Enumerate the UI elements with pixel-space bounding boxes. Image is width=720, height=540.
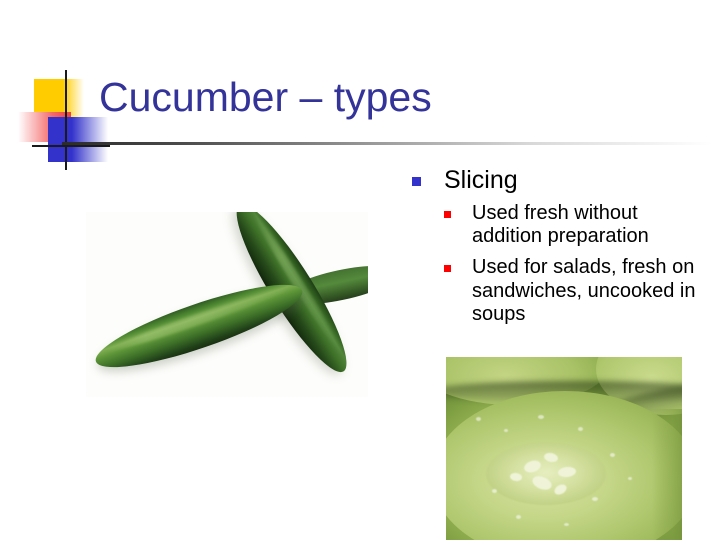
bullet-level1: Slicing [410, 166, 710, 196]
cucumber-diagonal [89, 270, 309, 383]
slide-title: Cucumber – types [99, 74, 432, 121]
highlight-speckle [492, 489, 497, 493]
accent-vertical-line [65, 70, 67, 170]
content-bullet-list: Slicing Used fresh without addition prep… [410, 166, 710, 334]
accent-horizontal-line [32, 145, 110, 147]
highlight-speckle [516, 515, 521, 519]
square-bullet-icon [444, 211, 451, 218]
whole-cucumbers-photo [86, 212, 368, 397]
accent-blue-rect [48, 117, 108, 162]
bullet-level2-text: Used fresh without addition preparation [472, 202, 649, 247]
bullet-level2: Used for salads, fresh on sandwiches, un… [410, 256, 710, 326]
square-bullet-icon [412, 177, 421, 186]
slide-canvas: Cucumber – types Slicing Used fresh with… [0, 0, 720, 540]
highlight-speckle [476, 417, 481, 421]
highlight-speckle [578, 427, 583, 431]
sliced-cucumber-closeup-photo [446, 357, 682, 540]
highlight-speckle [564, 523, 569, 526]
slice-right-shading [652, 409, 682, 540]
bullet-level1-text: Slicing [444, 166, 518, 194]
highlight-speckle [538, 415, 544, 419]
highlight-speckle [628, 477, 632, 480]
title-underline-rule [62, 142, 712, 145]
square-bullet-icon [444, 265, 451, 272]
highlight-speckle [592, 497, 598, 501]
bullet-level2-text: Used for salads, fresh on sandwiches, un… [472, 256, 695, 325]
highlight-speckle [504, 429, 508, 432]
bullet-level2: Used fresh without addition preparation [410, 202, 710, 249]
highlight-speckle [610, 453, 615, 457]
